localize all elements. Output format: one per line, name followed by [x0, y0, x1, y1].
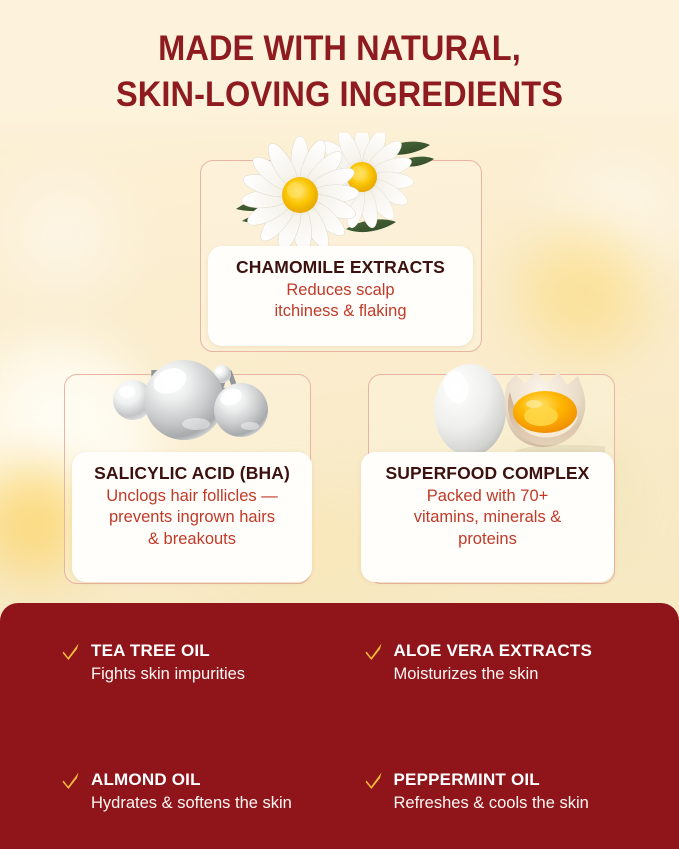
- benefit-text: ALMOND OIL Hydrates & softens the skin: [91, 770, 292, 814]
- benefits-panel: TEA TREE OIL Fights skin impurities ALOE…: [0, 603, 679, 849]
- description-line: Reduces scalp: [218, 280, 463, 301]
- benefit-title: PEPPERMINT OIL: [394, 770, 540, 789]
- background-blur-blob: [0, 150, 140, 320]
- background-blur-blob: [499, 215, 669, 365]
- benefit-title: TEA TREE OIL: [91, 641, 210, 660]
- description-line: proteins: [371, 529, 604, 550]
- description-line: prevents ingrown hairs: [82, 507, 302, 528]
- benefit-title: ALMOND OIL: [91, 770, 201, 789]
- ingredient-panel-chamomile: CHAMOMILE EXTRACTS Reduces scalp itchine…: [208, 246, 473, 346]
- check-icon: [62, 771, 80, 791]
- description-line: Unclogs hair follicles —: [82, 486, 302, 507]
- description-line: Packed with 70+: [371, 486, 604, 507]
- benefit-item-peppermint-oil: PEPPERMINT OIL Refreshes & cools the ski…: [365, 770, 658, 849]
- ingredient-title: CHAMOMILE EXTRACTS: [218, 257, 463, 278]
- check-icon: [62, 642, 80, 662]
- ingredient-description: Reduces scalp itchiness & flaking: [218, 280, 463, 323]
- benefit-text: PEPPERMINT OIL Refreshes & cools the ski…: [394, 770, 589, 814]
- ingredient-panel-superfood-complex: SUPERFOOD COMPLEX Packed with 70+ vitami…: [361, 452, 614, 582]
- benefit-description: Hydrates & softens the skin: [91, 793, 292, 814]
- benefits-list: TEA TREE OIL Fights skin impurities ALOE…: [0, 603, 679, 849]
- page-title: MADE WITH NATURAL, SKIN-LOVING INGREDIEN…: [24, 26, 655, 117]
- benefit-item-aloe-vera-extracts: ALOE VERA EXTRACTS Moisturizes the skin: [365, 641, 658, 720]
- description-line: itchiness & flaking: [218, 301, 463, 322]
- headline-line-1: MADE WITH NATURAL,: [24, 26, 655, 72]
- description-line: vitamins, minerals &: [371, 507, 604, 528]
- ingredient-description: Packed with 70+ vitamins, minerals & pro…: [371, 486, 604, 550]
- poster-root: MADE WITH NATURAL, SKIN-LOVING INGREDIEN…: [0, 0, 679, 849]
- benefit-title: ALOE VERA EXTRACTS: [394, 641, 593, 660]
- ingredient-title: SALICYLIC ACID (BHA): [82, 463, 302, 484]
- benefit-description: Moisturizes the skin: [394, 664, 593, 685]
- benefit-text: TEA TREE OIL Fights skin impurities: [91, 641, 245, 685]
- benefit-item-almond-oil: ALMOND OIL Hydrates & softens the skin: [62, 770, 355, 849]
- benefit-description: Refreshes & cools the skin: [394, 793, 589, 814]
- description-line: & breakouts: [82, 529, 302, 550]
- background-blur-blob: [529, 120, 679, 320]
- ingredient-description: Unclogs hair follicles — prevents ingrow…: [82, 486, 302, 550]
- ingredient-title: SUPERFOOD COMPLEX: [371, 463, 604, 484]
- benefit-description: Fights skin impurities: [91, 664, 245, 685]
- headline-line-2: SKIN-LOVING INGREDIENTS: [24, 72, 655, 118]
- benefit-text: ALOE VERA EXTRACTS Moisturizes the skin: [394, 641, 593, 685]
- check-icon: [365, 771, 383, 791]
- check-icon: [365, 642, 383, 662]
- benefit-item-tea-tree-oil: TEA TREE OIL Fights skin impurities: [62, 641, 355, 720]
- ingredient-panel-salicylic-acid: SALICYLIC ACID (BHA) Unclogs hair follic…: [72, 452, 312, 582]
